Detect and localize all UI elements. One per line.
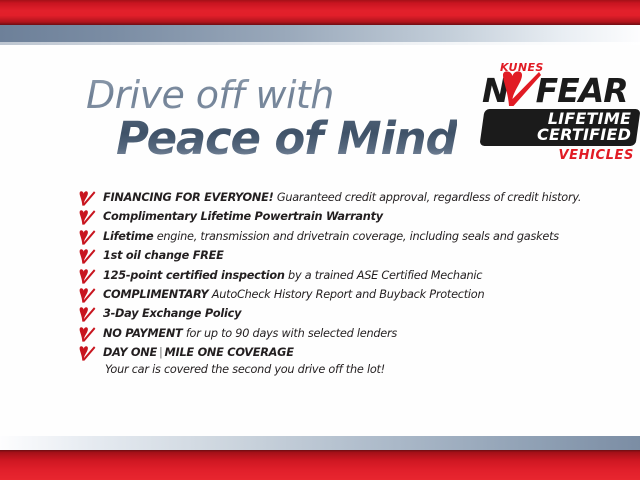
- list-item-text: Lifetime engine, transmission and drivet…: [103, 229, 598, 246]
- headline-line-2: Peace of Mind: [116, 116, 457, 161]
- top-gray-stripe: [0, 25, 640, 45]
- list-item-strong: DAY ONE: [103, 346, 157, 359]
- list-item-rest: engine, transmission and drivetrain cove…: [153, 230, 559, 243]
- list-item: 1st oil change FREE: [78, 248, 598, 265]
- list-item-rest: for up to 90 days with selected lenders: [182, 327, 397, 340]
- list-item-strong: Lifetime: [103, 230, 153, 243]
- logo-lifetime-certified-banner: LIFETIME CERTIFIED: [479, 109, 640, 146]
- list-item: 125-point certified inspection by a trai…: [78, 268, 598, 285]
- list-item-strong: FINANCING FOR EVERYONE!: [103, 191, 273, 204]
- top-red-stripe: [0, 0, 640, 25]
- list-item-strong-2: MILE ONE COVERAGE: [165, 346, 294, 359]
- list-item-strong: 1st oil change FREE: [103, 249, 224, 262]
- list-item-text: COMPLIMENTARY AutoCheck History Report a…: [103, 287, 598, 304]
- list-item-text: Complimentary Lifetime Powertrain Warran…: [103, 209, 598, 226]
- list-item-separator: |: [157, 346, 165, 359]
- heart-check-icon: [78, 346, 96, 361]
- list-item-strong: 125-point certified inspection: [103, 269, 285, 282]
- heart-check-icon: [78, 307, 96, 322]
- heart-check-icon: [78, 249, 96, 264]
- promo-banner: Drive off with Peace of Mind KUNES NFEAR…: [0, 0, 640, 480]
- logo-letter-n: N: [482, 74, 509, 108]
- list-item-rest: AutoCheck History Report and Buyback Pro…: [208, 288, 484, 301]
- heart-check-icon: [78, 210, 96, 225]
- list-item: Complimentary Lifetime Powertrain Warran…: [78, 209, 598, 226]
- list-item-text: 3-Day Exchange Policy: [103, 306, 598, 323]
- list-item-rest: Guaranteed credit approval, regardless o…: [273, 191, 581, 204]
- bottom-gray-stripe: [0, 436, 640, 450]
- list-item-strong: Complimentary Lifetime Powertrain Warran…: [103, 210, 383, 223]
- heart-check-icon: [78, 230, 96, 245]
- list-item-strong: 3-Day Exchange Policy: [103, 307, 241, 320]
- heart-check-icon: [78, 327, 96, 342]
- list-item-text: FINANCING FOR EVERYONE! Guaranteed credi…: [103, 190, 598, 207]
- heart-check-icon: [78, 288, 96, 303]
- list-item-text: 125-point certified inspection by a trai…: [103, 268, 598, 285]
- heart-check-icon: [78, 191, 96, 206]
- kunes-no-fear-logo: KUNES NFEAR LIFETIME CERTIFIED VEHICLES: [478, 62, 638, 162]
- bottom-red-stripe: [0, 450, 640, 480]
- logo-vehicles-text: VEHICLES: [478, 149, 634, 162]
- list-item-rest: by a trained ASE Certified Mechanic: [285, 269, 483, 282]
- heart-check-icon: [78, 269, 96, 284]
- list-item: Lifetime engine, transmission and drivet…: [78, 229, 598, 246]
- logo-nofear-wordmark: NFEAR: [482, 74, 638, 108]
- list-item-subline: Your car is covered the second you drive…: [105, 362, 598, 378]
- benefits-list: FINANCING FOR EVERYONE! Guaranteed credi…: [78, 190, 598, 380]
- list-item-text: 1st oil change FREE: [103, 248, 598, 265]
- logo-word-fear: FEAR: [509, 74, 628, 108]
- headline-line-1: Drive off with: [86, 76, 457, 114]
- list-item: DAY ONE|MILE ONE COVERAGE Your car is co…: [78, 345, 598, 378]
- list-item: 3-Day Exchange Policy: [78, 306, 598, 323]
- list-item: NO PAYMENT for up to 90 days with select…: [78, 326, 598, 343]
- headline-block: Drive off with Peace of Mind: [86, 76, 457, 161]
- list-item-text: NO PAYMENT for up to 90 days with select…: [103, 326, 598, 343]
- list-item-strong: COMPLIMENTARY: [103, 288, 208, 301]
- list-item: FINANCING FOR EVERYONE! Guaranteed credi…: [78, 190, 598, 207]
- list-item-strong: NO PAYMENT: [103, 327, 182, 340]
- list-item-text: DAY ONE|MILE ONE COVERAGE: [103, 345, 598, 362]
- logo-lifetime-certified-text: LIFETIME CERTIFIED: [489, 111, 631, 143]
- list-item: COMPLIMENTARY AutoCheck History Report a…: [78, 287, 598, 304]
